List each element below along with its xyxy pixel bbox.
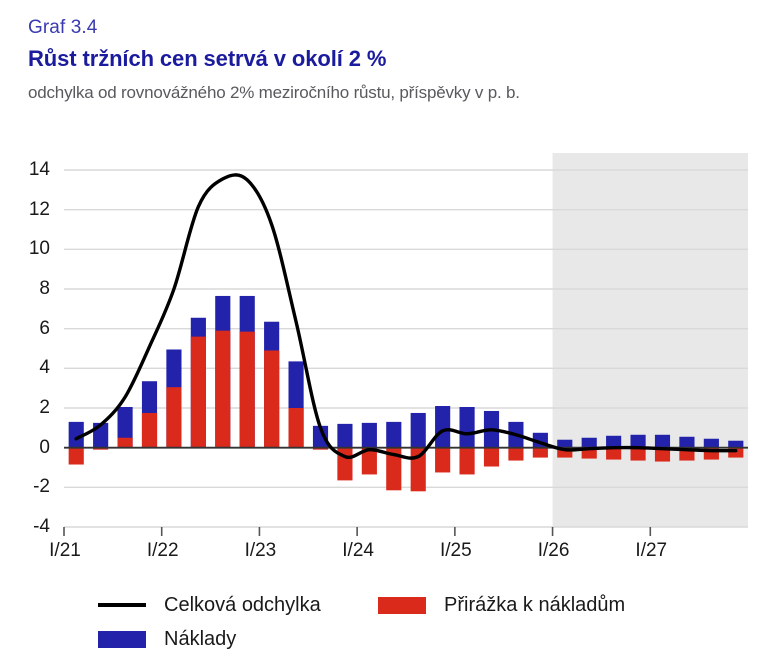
bar-segment-prirazka [117,438,132,448]
legend-item-naklady: Náklady [98,628,378,650]
bar-segment-naklady [557,440,572,448]
bar-segment-prirazka [240,332,255,448]
legend-item-celkova-odchylka: Celková odchylka [98,594,378,616]
bar-segment-naklady [630,435,645,448]
bar-segment-prirazka [630,448,645,461]
legend-row-2: Náklady [98,622,758,656]
bar-segment-naklady [728,441,743,448]
legend-row-1: Celková odchylka Přirážka k nákladům [98,588,758,622]
x-axis-tick-label: I/23 [225,541,295,560]
legend-label-prirazka: Přirážka k nákladům [444,594,625,616]
bar-segment-prirazka [288,408,303,448]
bar-segment-naklady [386,422,401,448]
bar-segment-prirazka [191,337,206,448]
bar-segment-naklady [679,437,694,448]
legend-line-swatch-icon [98,603,146,607]
x-axis-tick-label: I/21 [30,541,100,560]
x-axis-tick-label: I/24 [323,541,393,560]
legend-blue-swatch-icon [98,631,146,648]
bar-segment-naklady [582,438,597,448]
y-axis-tick-label: 12 [8,200,50,219]
bar-segment-prirazka [459,448,474,475]
x-axis-tick-label: I/26 [519,541,589,560]
bar-segment-prirazka [215,331,230,448]
bar-segment-prirazka [533,448,548,458]
y-axis-tick-label: 6 [8,319,50,338]
y-axis-tick-label: 14 [8,160,50,179]
bar-segment-prirazka [264,350,279,447]
bar-segment-naklady [435,406,450,448]
y-axis-tick-label: -4 [8,517,50,536]
chart-page: Graf 3.4 Růst tržních cen setrvá v okolí… [0,0,770,671]
y-axis-tick-label: -2 [8,477,50,496]
bar-segment-prirazka [484,448,499,467]
legend-item-prirazka: Přirážka k nákladům [378,594,625,616]
bar-segment-naklady [606,436,621,448]
y-axis-tick-label: 0 [8,438,50,457]
bar-segment-prirazka [69,448,84,465]
bar-segment-naklady [655,435,670,448]
y-axis-tick-label: 10 [8,239,50,258]
bar-segment-prirazka [166,387,181,447]
x-axis-tick-label: I/25 [421,541,491,560]
y-axis-tick-label: 4 [8,358,50,377]
chart-plot [0,0,770,671]
bar-segment-naklady [704,439,719,448]
bar-segment-naklady [411,413,426,448]
bar-segment-prirazka [435,448,450,473]
chart-legend: Celková odchylka Přirážka k nákladům Nák… [98,588,758,656]
y-axis-tick-label: 2 [8,398,50,417]
bar-segment-naklady [459,407,474,448]
bar-segment-naklady [362,423,377,448]
y-axis-tick-label: 8 [8,279,50,298]
legend-label-celkova-odchylka: Celková odchylka [164,594,321,616]
legend-red-swatch-icon [378,597,426,614]
bar-segment-naklady [337,424,352,448]
bar-segment-prirazka [508,448,523,461]
x-axis-tick-label: I/27 [616,541,686,560]
bar-segment-prirazka [142,413,157,448]
legend-label-naklady: Náklady [164,628,236,650]
x-axis-tick-label: I/22 [128,541,198,560]
